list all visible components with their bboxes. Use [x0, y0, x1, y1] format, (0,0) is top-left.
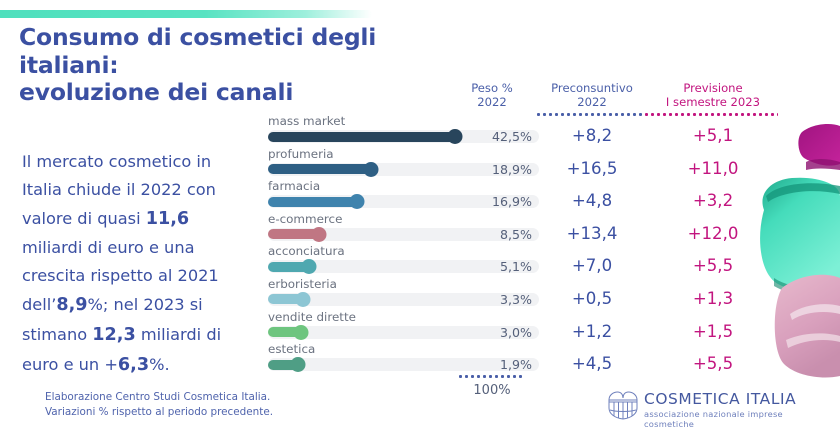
channel-row: farmacia16,9%+4,8+3,2	[0, 181, 840, 214]
channel-label: erboristeria	[268, 277, 337, 291]
channel-previsione-value: +1,5	[648, 322, 778, 341]
total-dotted-rule	[459, 375, 525, 378]
channel-label: e-commerce	[268, 212, 342, 226]
infographic-slide: Consumo di cosmetici degli italiani: evo…	[0, 0, 840, 436]
channel-row: vendite dirette3,0%+1,2+1,5	[0, 312, 840, 345]
page-title: Consumo di cosmetici degli italiani: evo…	[19, 24, 439, 107]
logo-tagline: associazione nazionale imprese cosmetich…	[644, 409, 806, 429]
channel-preconsuntivo-value: +0,5	[536, 289, 648, 308]
footnote-line1: Elaborazione Centro Studi Cosmetica Ital…	[45, 390, 375, 405]
channel-previsione-value: +11,0	[648, 159, 778, 178]
channel-preconsuntivo-value: +8,2	[536, 126, 648, 145]
channel-row: estetica1,9%+4,5+5,5	[0, 344, 840, 377]
channel-preconsuntivo-value: +7,0	[536, 256, 648, 275]
channel-bar-endpoint	[301, 259, 316, 274]
footnote-line2: Variazioni % rispetto al periodo precede…	[45, 405, 375, 420]
column-header-previsione-line2: I semestre 2023	[648, 95, 778, 109]
logo-name: COSMETICA ITALIA	[644, 390, 796, 408]
column-header-peso-line1: Peso %	[452, 81, 532, 95]
channel-previsione-value: +3,2	[648, 191, 778, 210]
channel-rows: mass market42,5%+8,2+5,1profumeria18,9%+…	[0, 116, 840, 377]
column-header-preconsuntivo-line1: Preconsuntivo	[536, 81, 648, 95]
channel-bar-endpoint	[290, 357, 305, 372]
channel-previsione-value: +5,5	[648, 256, 778, 275]
channel-peso-value: 18,9%	[470, 162, 532, 177]
channel-label: acconciatura	[268, 244, 345, 258]
channel-peso-value: 16,9%	[470, 194, 532, 209]
column-header-peso-line2: 2022	[452, 95, 532, 109]
channel-peso-value: 3,0%	[470, 325, 532, 340]
page-title-line2: evoluzione dei canali	[19, 79, 439, 107]
channel-bar-fill	[268, 132, 455, 142]
channel-bar-endpoint	[312, 227, 327, 242]
channel-previsione-value: +5,1	[648, 126, 778, 145]
channel-peso-value: 42,5%	[470, 129, 532, 144]
channel-previsione-value: +1,3	[648, 289, 778, 308]
cosmetica-italia-logo: COSMETICA ITALIA associazione nazionale …	[606, 390, 806, 426]
channel-previsione-value: +5,5	[648, 354, 778, 373]
channel-row: erboristeria3,3%+0,5+1,3	[0, 279, 840, 312]
channel-row: acconciatura5,1%+7,0+5,5	[0, 246, 840, 279]
logo-emblem-icon	[606, 390, 640, 420]
channel-peso-value: 8,5%	[470, 227, 532, 242]
channel-preconsuntivo-value: +4,5	[536, 354, 648, 373]
channel-row: profumeria18,9%+16,5+11,0	[0, 149, 840, 182]
channel-bar-endpoint	[293, 325, 308, 340]
channel-bar-endpoint	[447, 129, 462, 144]
channel-peso-value: 3,3%	[470, 292, 532, 307]
channel-label: estetica	[268, 342, 315, 356]
channel-label: farmacia	[268, 179, 320, 193]
column-header-preconsuntivo: Preconsuntivo 2022	[536, 81, 648, 110]
column-header-previsione: Previsione I semestre 2023	[648, 81, 778, 110]
column-header-preconsuntivo-line2: 2022	[536, 95, 648, 109]
channel-bar-fill	[268, 197, 357, 207]
column-header-previsione-line1: Previsione	[648, 81, 778, 95]
column-header-peso: Peso % 2022	[452, 81, 532, 110]
channel-peso-value: 1,9%	[470, 357, 532, 372]
channel-bar-fill	[268, 164, 371, 174]
top-accent-bar	[0, 10, 372, 18]
source-footnote: Elaborazione Centro Studi Cosmetica Ital…	[45, 390, 375, 420]
channel-label: mass market	[268, 114, 345, 128]
channel-label: profumeria	[268, 147, 334, 161]
channel-preconsuntivo-value: +16,5	[536, 159, 648, 178]
page-title-line1: Consumo di cosmetici degli italiani:	[19, 23, 376, 79]
channel-bar-endpoint	[350, 194, 365, 209]
channel-peso-value: 5,1%	[470, 259, 532, 274]
channel-row: e-commerce8,5%+13,4+12,0	[0, 214, 840, 247]
channel-label: vendite dirette	[268, 310, 356, 324]
channel-preconsuntivo-value: +1,2	[536, 322, 648, 341]
channel-bar-endpoint	[363, 162, 378, 177]
channel-preconsuntivo-value: +13,4	[536, 224, 648, 243]
channel-bar-endpoint	[296, 292, 311, 307]
channel-preconsuntivo-value: +4,8	[536, 191, 648, 210]
channel-row: mass market42,5%+8,2+5,1	[0, 116, 840, 149]
channel-previsione-value: +12,0	[648, 224, 778, 243]
total-value: 100%	[452, 383, 532, 398]
